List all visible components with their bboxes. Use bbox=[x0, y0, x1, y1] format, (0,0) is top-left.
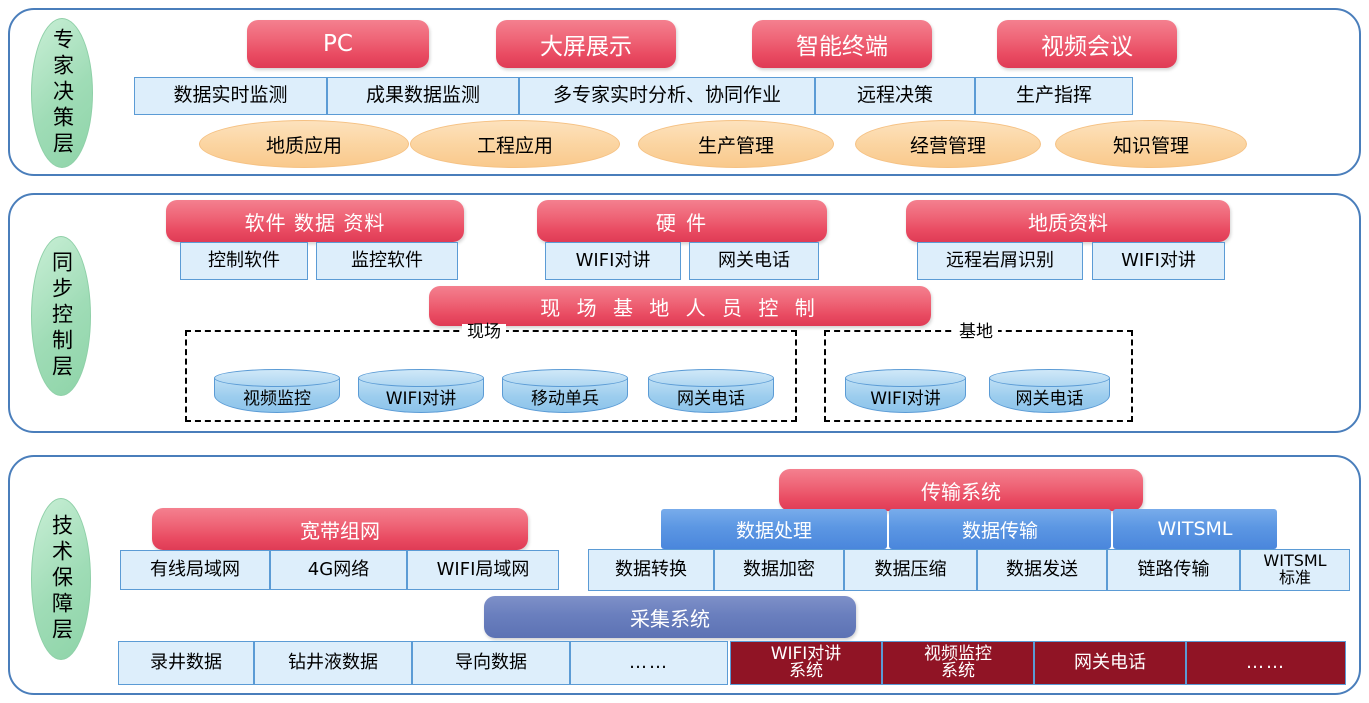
application-oval-label: 地质应用 bbox=[266, 131, 342, 158]
transmission-item-label: 数据发送 bbox=[1006, 561, 1078, 580]
acquisition-system-video-monitor[interactable]: 视频监控 系统 bbox=[882, 641, 1034, 685]
acquisition-system-more[interactable]: …… bbox=[1186, 641, 1346, 685]
application-oval-label: 经营管理 bbox=[910, 131, 986, 158]
transmission-item-data-send[interactable]: 数据发送 bbox=[977, 549, 1107, 591]
function-cell-label: 数据实时监测 bbox=[173, 86, 287, 106]
control-bar-label: 现 场 基 地 人 员 控 制 bbox=[540, 292, 820, 321]
transmission-item-data-convert[interactable]: 数据转换 bbox=[588, 549, 714, 591]
group-header-label: 地质资料 bbox=[1028, 207, 1108, 236]
network-item-label: 有线局域网 bbox=[150, 561, 240, 580]
zone-node-wifi-intercom-base[interactable]: WIFI对讲 bbox=[845, 369, 966, 413]
function-cell-realtime-monitor[interactable]: 数据实时监测 bbox=[134, 77, 327, 115]
transmission-item-link-transfer[interactable]: 链路传输 bbox=[1107, 549, 1240, 591]
network-header-broadband[interactable]: 宽带组网 bbox=[152, 508, 528, 550]
function-cell-label: 多专家实时分析、协同作业 bbox=[553, 86, 781, 106]
terminal-pc[interactable]: PC bbox=[247, 20, 429, 68]
transmission-tier-label: 数据传输 bbox=[962, 516, 1038, 543]
application-oval-label: 工程应用 bbox=[477, 131, 553, 158]
transmission-item-label-line2: 标准 bbox=[1279, 570, 1311, 587]
application-oval-geology[interactable]: 地质应用 bbox=[199, 120, 409, 168]
terminal-large-screen-label: 大屏展示 bbox=[540, 27, 632, 61]
transmission-tier-label: 数据处理 bbox=[736, 516, 812, 543]
zone-node-label: WIFI对讲 bbox=[845, 379, 966, 413]
zone-node-mobile-unit[interactable]: 移动单兵 bbox=[502, 369, 628, 413]
architecture-diagram: 专家决策层 PC 大屏展示 智能终端 视频会议 数据实时监测 成果数据监测 多专… bbox=[0, 0, 1369, 703]
acquisition-system-label-line2: 系统 bbox=[941, 663, 975, 680]
acquisition-header-label: 采集系统 bbox=[630, 603, 710, 632]
acquisition-system-label: 网关电话 bbox=[1074, 654, 1146, 672]
transmission-tier-data-transfer[interactable]: 数据传输 bbox=[889, 509, 1111, 549]
transmission-tier-data-processing[interactable]: 数据处理 bbox=[661, 509, 887, 549]
transmission-item-label: 数据压缩 bbox=[875, 561, 947, 580]
function-cell-remote-decision[interactable]: 远程决策 bbox=[815, 77, 975, 115]
function-cell-production-command[interactable]: 生产指挥 bbox=[975, 77, 1133, 115]
network-header-label: 宽带组网 bbox=[300, 515, 380, 544]
application-oval-label: 知识管理 bbox=[1113, 131, 1189, 158]
function-cell-result-monitor[interactable]: 成果数据监测 bbox=[327, 77, 519, 115]
transmission-item-label: 数据转换 bbox=[615, 561, 687, 580]
group-header-software-data[interactable]: 软件 数据 资料 bbox=[166, 200, 464, 242]
acquisition-source-label: 钻井液数据 bbox=[288, 654, 378, 673]
acquisition-source-label: 导向数据 bbox=[455, 654, 527, 673]
zone-node-label: WIFI对讲 bbox=[358, 379, 484, 413]
group-item-wifi-intercom-hw[interactable]: WIFI对讲 bbox=[545, 242, 681, 280]
function-cell-label: 生产指挥 bbox=[1016, 86, 1092, 106]
zone-label-text: 现场 bbox=[467, 322, 501, 342]
acquisition-source-more[interactable]: …… bbox=[570, 641, 728, 685]
group-item-label: WIFI对讲 bbox=[1121, 252, 1196, 271]
terminal-smart-device-label: 智能终端 bbox=[796, 27, 888, 61]
transmission-header[interactable]: 传输系统 bbox=[779, 469, 1143, 511]
group-header-hardware[interactable]: 硬 件 bbox=[537, 200, 827, 242]
group-item-control-software[interactable]: 控制软件 bbox=[180, 242, 308, 280]
group-item-gateway-phone-hw[interactable]: 网关电话 bbox=[689, 242, 819, 280]
control-bar-site-base-personnel[interactable]: 现 场 基 地 人 员 控 制 bbox=[429, 286, 931, 326]
group-item-label: 网关电话 bbox=[718, 252, 790, 271]
acquisition-source-label: 录井数据 bbox=[150, 654, 222, 673]
acquisition-header[interactable]: 采集系统 bbox=[484, 596, 856, 638]
application-oval-engineering[interactable]: 工程应用 bbox=[410, 120, 620, 168]
acquisition-system-label: …… bbox=[1246, 654, 1286, 672]
acquisition-source-mudlogging[interactable]: 录井数据 bbox=[118, 641, 254, 685]
network-item-wired-lan[interactable]: 有线局域网 bbox=[120, 550, 270, 590]
network-item-wifi-lan[interactable]: WIFI局域网 bbox=[407, 550, 559, 590]
layer-label-text: 同步控制层 bbox=[51, 251, 72, 381]
application-oval-knowledge[interactable]: 知识管理 bbox=[1055, 120, 1247, 168]
function-cell-label: 成果数据监测 bbox=[366, 86, 480, 106]
group-header-label: 软件 数据 资料 bbox=[245, 207, 386, 236]
acquisition-system-label-line2: 系统 bbox=[789, 663, 823, 680]
network-item-label: 4G网络 bbox=[308, 561, 369, 580]
layer-label-text: 技术保障层 bbox=[51, 514, 72, 644]
acquisition-system-gateway-phone[interactable]: 网关电话 bbox=[1034, 641, 1186, 685]
zone-node-gateway-phone-site[interactable]: 网关电话 bbox=[648, 369, 774, 413]
transmission-item-label: 数据加密 bbox=[743, 561, 815, 580]
zone-node-video-monitor[interactable]: 视频监控 bbox=[214, 369, 340, 413]
group-header-label: 硬 件 bbox=[656, 207, 708, 236]
zone-label-site: 现场 bbox=[462, 324, 506, 341]
transmission-item-witsml-standard[interactable]: WITSML 标准 bbox=[1240, 549, 1350, 591]
terminal-pc-label: PC bbox=[323, 31, 353, 57]
zone-label-base: 基地 bbox=[954, 324, 998, 341]
zone-node-label: 移动单兵 bbox=[502, 379, 628, 413]
transmission-header-label: 传输系统 bbox=[921, 476, 1001, 505]
layer-label-expert-decision: 专家决策层 bbox=[31, 18, 93, 168]
layer-label-sync-control: 同步控制层 bbox=[31, 236, 91, 396]
transmission-tier-witsml[interactable]: WITSML bbox=[1113, 509, 1277, 549]
acquisition-source-label: …… bbox=[629, 654, 669, 673]
terminal-large-screen[interactable]: 大屏展示 bbox=[496, 20, 676, 68]
function-cell-label: 远程决策 bbox=[857, 86, 933, 106]
zone-node-wifi-intercom-site[interactable]: WIFI对讲 bbox=[358, 369, 484, 413]
terminal-video-conference-label: 视频会议 bbox=[1041, 27, 1133, 61]
function-cell-multi-expert[interactable]: 多专家实时分析、协同作业 bbox=[519, 77, 815, 115]
group-item-label: WIFI对讲 bbox=[576, 252, 651, 271]
group-item-wifi-intercom-geo[interactable]: WIFI对讲 bbox=[1092, 242, 1225, 280]
network-item-label: WIFI局域网 bbox=[437, 561, 530, 580]
transmission-item-data-encrypt[interactable]: 数据加密 bbox=[714, 549, 844, 591]
group-item-label: 监控软件 bbox=[351, 252, 423, 271]
transmission-item-label: 链路传输 bbox=[1138, 561, 1210, 580]
group-item-label: 远程岩屑识别 bbox=[946, 252, 1054, 271]
acquisition-source-drilling-fluid[interactable]: 钻井液数据 bbox=[254, 641, 412, 685]
zone-label-text: 基地 bbox=[959, 322, 993, 342]
group-item-label: 控制软件 bbox=[208, 252, 280, 271]
terminal-video-conference[interactable]: 视频会议 bbox=[997, 20, 1177, 68]
zone-node-gateway-phone-base[interactable]: 网关电话 bbox=[989, 369, 1110, 413]
acquisition-system-wifi-intercom[interactable]: WIFI对讲 系统 bbox=[730, 641, 882, 685]
acquisition-source-steering[interactable]: 导向数据 bbox=[412, 641, 570, 685]
transmission-item-data-compress[interactable]: 数据压缩 bbox=[844, 549, 977, 591]
application-oval-management[interactable]: 经营管理 bbox=[855, 120, 1041, 168]
group-header-geology-data[interactable]: 地质资料 bbox=[906, 200, 1230, 242]
group-item-remote-cuttings[interactable]: 远程岩屑识别 bbox=[917, 242, 1083, 280]
zone-node-label: 视频监控 bbox=[214, 379, 340, 413]
application-oval-production[interactable]: 生产管理 bbox=[638, 120, 834, 168]
group-item-monitor-software[interactable]: 监控软件 bbox=[316, 242, 458, 280]
layer-label-tech-support: 技术保障层 bbox=[31, 498, 91, 660]
network-item-4g[interactable]: 4G网络 bbox=[270, 550, 407, 590]
zone-node-label: 网关电话 bbox=[989, 379, 1110, 413]
zone-node-label: 网关电话 bbox=[648, 379, 774, 413]
application-oval-label: 生产管理 bbox=[698, 131, 774, 158]
terminal-smart-device[interactable]: 智能终端 bbox=[752, 20, 932, 68]
layer-label-text: 专家决策层 bbox=[52, 28, 73, 158]
transmission-tier-label: WITSML bbox=[1157, 518, 1232, 540]
